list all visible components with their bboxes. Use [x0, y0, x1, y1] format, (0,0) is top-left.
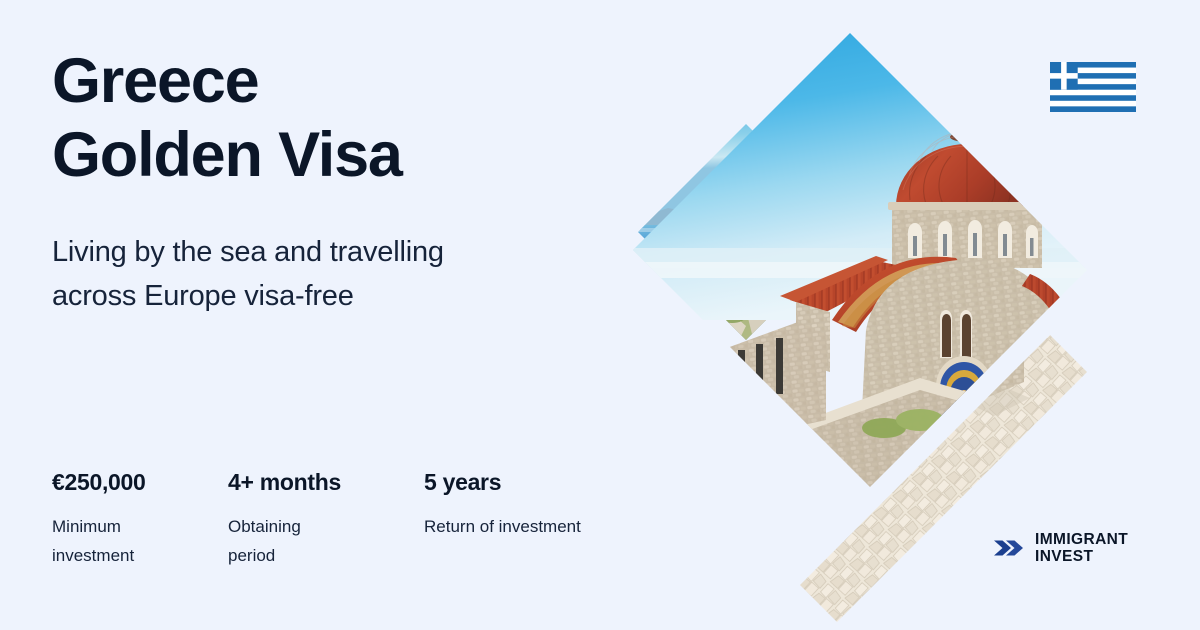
logo-text: IMMIGRANT INVEST: [1035, 531, 1128, 565]
stats-row: €250,000 Minimum investment 4+ months Ob…: [52, 468, 664, 570]
stat-value: 4+ months: [228, 468, 424, 496]
hero-text-block: Greece Golden Visa Living by the sea and…: [52, 44, 672, 318]
immigrant-invest-logo[interactable]: IMMIGRANT INVEST: [994, 531, 1128, 565]
page-title: Greece Golden Visa: [52, 44, 672, 192]
banner: Greece Golden Visa Living by the sea and…: [0, 0, 1200, 630]
stat-label: Minimum investment: [52, 512, 228, 570]
stat-item: 4+ months Obtaining period: [228, 468, 424, 570]
stat-item: €250,000 Minimum investment: [52, 468, 228, 570]
stat-value: €250,000: [52, 468, 228, 496]
greek-flag: [1050, 62, 1136, 112]
stat-label: Obtaining period: [228, 512, 424, 570]
hero-subtitle: Living by the sea and travelling across …: [52, 230, 672, 318]
double-chevron-icon: [994, 536, 1024, 560]
